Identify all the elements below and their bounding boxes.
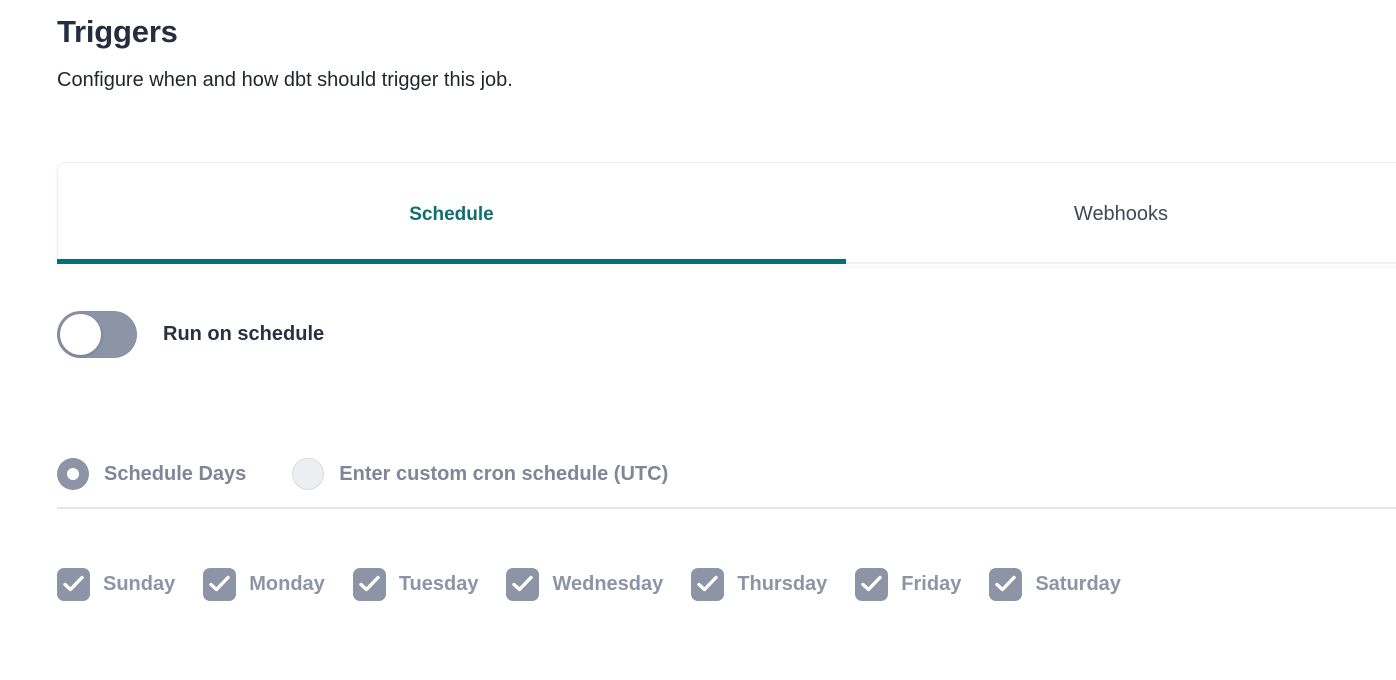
schedule-days-checkbox-group: Sunday Monday Tuesday	[57, 568, 1121, 601]
page-header: Triggers Configure when and how dbt shou…	[57, 10, 1337, 95]
day-checkbox-wednesday[interactable]: Wednesday	[506, 568, 663, 601]
tab-strip: Schedule Webhooks	[58, 163, 1396, 266]
triggers-page: Triggers Configure when and how dbt shou…	[0, 0, 1396, 680]
radio-option-schedule-days-label: Schedule Days	[104, 463, 246, 486]
tab-webhooks-label: Webhooks	[1074, 203, 1168, 226]
run-on-schedule-toggle[interactable]	[57, 311, 137, 358]
schedule-mode-radio-group: Schedule Days Enter custom cron schedule…	[57, 458, 668, 490]
page-subtitle: Configure when and how dbt should trigge…	[57, 65, 1337, 95]
day-checkbox-saturday[interactable]: Saturday	[989, 568, 1121, 601]
toggle-knob	[60, 314, 101, 355]
run-on-schedule-row: Run on schedule	[57, 311, 324, 358]
day-checkbox-sunday[interactable]: Sunday	[57, 568, 175, 601]
check-icon[interactable]	[57, 568, 90, 601]
day-checkbox-tuesday[interactable]: Tuesday	[353, 568, 479, 601]
check-icon[interactable]	[506, 568, 539, 601]
radio-option-schedule-days[interactable]: Schedule Days	[57, 458, 246, 490]
active-tab-underline	[57, 259, 846, 264]
day-checkbox-friday[interactable]: Friday	[855, 568, 961, 601]
check-icon[interactable]	[989, 568, 1022, 601]
tab-webhooks[interactable]: Webhooks	[847, 163, 1396, 266]
tab-strip-baseline	[846, 262, 1396, 264]
tab-schedule[interactable]: Schedule	[58, 163, 847, 266]
page-title: Triggers	[57, 10, 1337, 54]
day-label: Wednesday	[552, 573, 663, 596]
section-divider	[57, 507, 1396, 509]
day-checkbox-monday[interactable]: Monday	[203, 568, 325, 601]
day-label: Sunday	[103, 573, 175, 596]
tab-schedule-label: Schedule	[409, 204, 493, 226]
day-label: Thursday	[737, 573, 827, 596]
day-label: Friday	[901, 573, 961, 596]
day-label: Monday	[249, 573, 325, 596]
check-icon[interactable]	[353, 568, 386, 601]
radio-option-custom-cron[interactable]: Enter custom cron schedule (UTC)	[292, 458, 668, 490]
check-icon[interactable]	[855, 568, 888, 601]
day-checkbox-thursday[interactable]: Thursday	[691, 568, 827, 601]
radio-option-custom-cron-label: Enter custom cron schedule (UTC)	[339, 463, 668, 486]
check-icon[interactable]	[691, 568, 724, 601]
radio-unselected-icon[interactable]	[292, 458, 324, 490]
triggers-tab-card: Schedule Webhooks	[57, 162, 1396, 266]
run-on-schedule-label: Run on schedule	[163, 323, 324, 346]
radio-selected-icon[interactable]	[57, 458, 89, 490]
check-icon[interactable]	[203, 568, 236, 601]
day-label: Saturday	[1035, 573, 1121, 596]
day-label: Tuesday	[399, 573, 479, 596]
